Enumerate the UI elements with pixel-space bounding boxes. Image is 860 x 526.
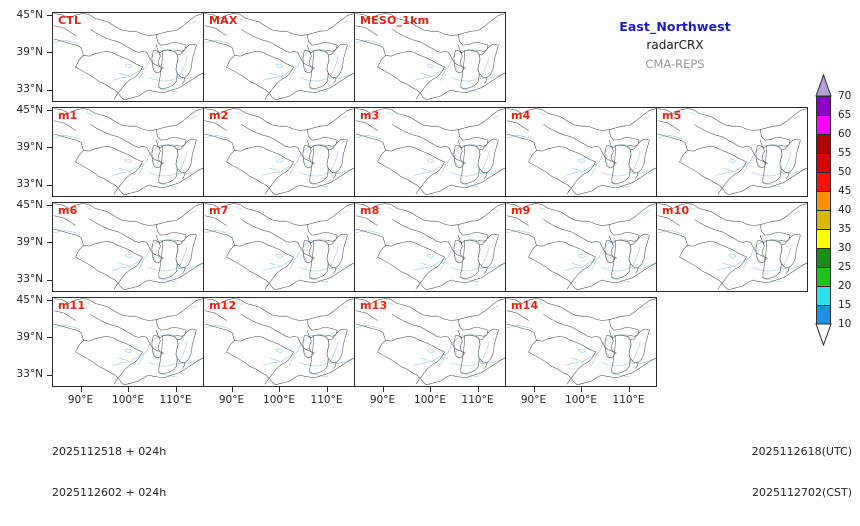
basemap-svg xyxy=(204,203,354,291)
y-tick-label: 33°N xyxy=(17,84,43,94)
colorbar-band xyxy=(817,173,830,192)
x-tick-label: 100°E xyxy=(255,395,303,406)
basemap-svg xyxy=(657,108,807,196)
region-title: East_Northwest xyxy=(560,18,790,36)
model-name: CMA-REPS xyxy=(560,55,790,73)
colorbar-band xyxy=(817,192,830,211)
colorbar-body xyxy=(816,96,831,324)
basemap-svg xyxy=(355,298,505,386)
colorbar-tick-label: 60 xyxy=(838,129,851,140)
x-tick-mark xyxy=(279,387,280,392)
map-panel-m4[interactable]: m4 xyxy=(505,107,657,197)
colorbar-tick-label: 35 xyxy=(838,224,851,235)
x-tick-mark xyxy=(430,387,431,392)
x-tick-mark xyxy=(478,387,479,392)
y-axis: 45°N39°N33°N45°N39°N33°N45°N39°N33°N45°N… xyxy=(0,0,52,456)
x-tick-mark xyxy=(232,387,233,392)
colorbar: 70656055504540353025201510 xyxy=(812,74,834,346)
map-panel-meso_1km[interactable]: MESO_1km xyxy=(354,12,506,102)
y-tick-label: 33°N xyxy=(17,179,43,189)
map-panel-m5[interactable]: m5 xyxy=(656,107,808,197)
colorbar-tick-label: 10 xyxy=(838,319,851,330)
basemap-svg xyxy=(53,108,203,196)
basemap-svg xyxy=(506,298,656,386)
colorbar-band xyxy=(817,135,830,154)
map-panel-max[interactable]: MAX xyxy=(203,12,355,102)
x-tick-mark xyxy=(581,387,582,392)
x-tick-label: 110°E xyxy=(454,395,502,406)
panel-empty xyxy=(656,297,808,387)
y-tick-label: 33°N xyxy=(17,369,43,379)
x-tick-mark xyxy=(81,387,82,392)
figure-root: 45°N39°N33°N45°N39°N33°N45°N39°N33°N45°N… xyxy=(0,0,860,456)
y-tick-label: 39°N xyxy=(17,332,43,342)
x-tick-label: 90°E xyxy=(359,395,407,406)
x-tick-mark xyxy=(327,387,328,392)
y-tick-label: 45°N xyxy=(17,200,43,210)
y-tick-label: 39°N xyxy=(17,237,43,247)
colorbar-band xyxy=(817,287,830,306)
x-tick-mark xyxy=(383,387,384,392)
init-forecast-line-2: 2025112602 + 024h xyxy=(52,486,166,500)
y-tick-label: 45°N xyxy=(17,295,43,305)
map-panel-m3[interactable]: m3 xyxy=(354,107,506,197)
y-tick-label: 39°N xyxy=(17,47,43,57)
colorbar-band xyxy=(817,154,830,173)
colorbar-tick-label: 30 xyxy=(838,243,851,254)
map-panel-m6[interactable]: m6 xyxy=(52,202,204,292)
valid-time-utc: 2025112618(UTC) xyxy=(752,445,852,459)
basemap-svg xyxy=(53,203,203,291)
header-block: East_Northwest radarCRX CMA-REPS xyxy=(560,18,790,73)
basemap-svg xyxy=(53,298,203,386)
y-tick-label: 45°N xyxy=(17,10,43,20)
map-panel-m8[interactable]: m8 xyxy=(354,202,506,292)
map-panel-m2[interactable]: m2 xyxy=(203,107,355,197)
x-tick-mark xyxy=(128,387,129,392)
y-tick-label: 45°N xyxy=(17,105,43,115)
footer-left: 2025112518 + 024h 2025112602 + 024h xyxy=(52,418,166,526)
basemap-svg xyxy=(355,13,505,101)
x-tick-mark xyxy=(629,387,630,392)
map-panel-m7[interactable]: m7 xyxy=(203,202,355,292)
colorbar-band xyxy=(817,97,830,116)
colorbar-band xyxy=(817,211,830,230)
x-tick-label: 110°E xyxy=(605,395,653,406)
basemap-svg xyxy=(506,203,656,291)
map-panel-m10[interactable]: m10 xyxy=(656,202,808,292)
basemap-svg xyxy=(204,13,354,101)
y-tick-label: 33°N xyxy=(17,274,43,284)
map-panel-ctl[interactable]: CTL xyxy=(52,12,204,102)
colorbar-over-arrow xyxy=(815,74,832,97)
colorbar-tick-label: 65 xyxy=(838,110,851,121)
x-tick-label: 100°E xyxy=(557,395,605,406)
map-panel-m12[interactable]: m12 xyxy=(203,297,355,387)
colorbar-tick-label: 15 xyxy=(838,300,851,311)
basemap-svg xyxy=(657,203,807,291)
basemap-svg xyxy=(204,298,354,386)
valid-time-cst: 2025112702(CST) xyxy=(752,486,852,500)
basemap-svg xyxy=(53,13,203,101)
x-tick-label: 90°E xyxy=(510,395,558,406)
colorbar-tick-label: 70 xyxy=(838,91,851,102)
basemap-svg xyxy=(355,108,505,196)
map-panel-m11[interactable]: m11 xyxy=(52,297,204,387)
y-tick-label: 39°N xyxy=(17,142,43,152)
x-tick-label: 110°E xyxy=(303,395,351,406)
basemap-svg xyxy=(204,108,354,196)
colorbar-tick-label: 45 xyxy=(838,186,851,197)
basemap-svg xyxy=(355,203,505,291)
colorbar-under-arrow xyxy=(815,323,832,346)
x-tick-mark xyxy=(534,387,535,392)
map-panel-m13[interactable]: m13 xyxy=(354,297,506,387)
x-tick-label: 100°E xyxy=(406,395,454,406)
x-tick-label: 110°E xyxy=(152,395,200,406)
colorbar-tick-label: 25 xyxy=(838,262,851,273)
colorbar-band xyxy=(817,116,830,135)
colorbar-tick-label: 20 xyxy=(838,281,851,292)
footer-right: 2025112618(UTC) 2025112702(CST) xyxy=(752,418,852,526)
map-panel-m14[interactable]: m14 xyxy=(505,297,657,387)
x-tick-label: 90°E xyxy=(208,395,256,406)
colorbar-band xyxy=(817,249,830,268)
colorbar-tick-label: 40 xyxy=(838,205,851,216)
init-forecast-line-1: 2025112518 + 024h xyxy=(52,445,166,459)
colorbar-tick-label: 55 xyxy=(838,148,851,159)
product-name: radarCRX xyxy=(560,36,790,55)
basemap-svg xyxy=(506,108,656,196)
colorbar-band xyxy=(817,230,830,249)
x-tick-label: 100°E xyxy=(104,395,152,406)
x-tick-mark xyxy=(176,387,177,392)
x-tick-label: 90°E xyxy=(57,395,105,406)
map-panel-m9[interactable]: m9 xyxy=(505,202,657,292)
colorbar-tick-label: 50 xyxy=(838,167,851,178)
colorbar-band xyxy=(817,268,830,287)
map-panel-m1[interactable]: m1 xyxy=(52,107,204,197)
colorbar-labels: 70656055504540353025201510 xyxy=(834,96,860,324)
